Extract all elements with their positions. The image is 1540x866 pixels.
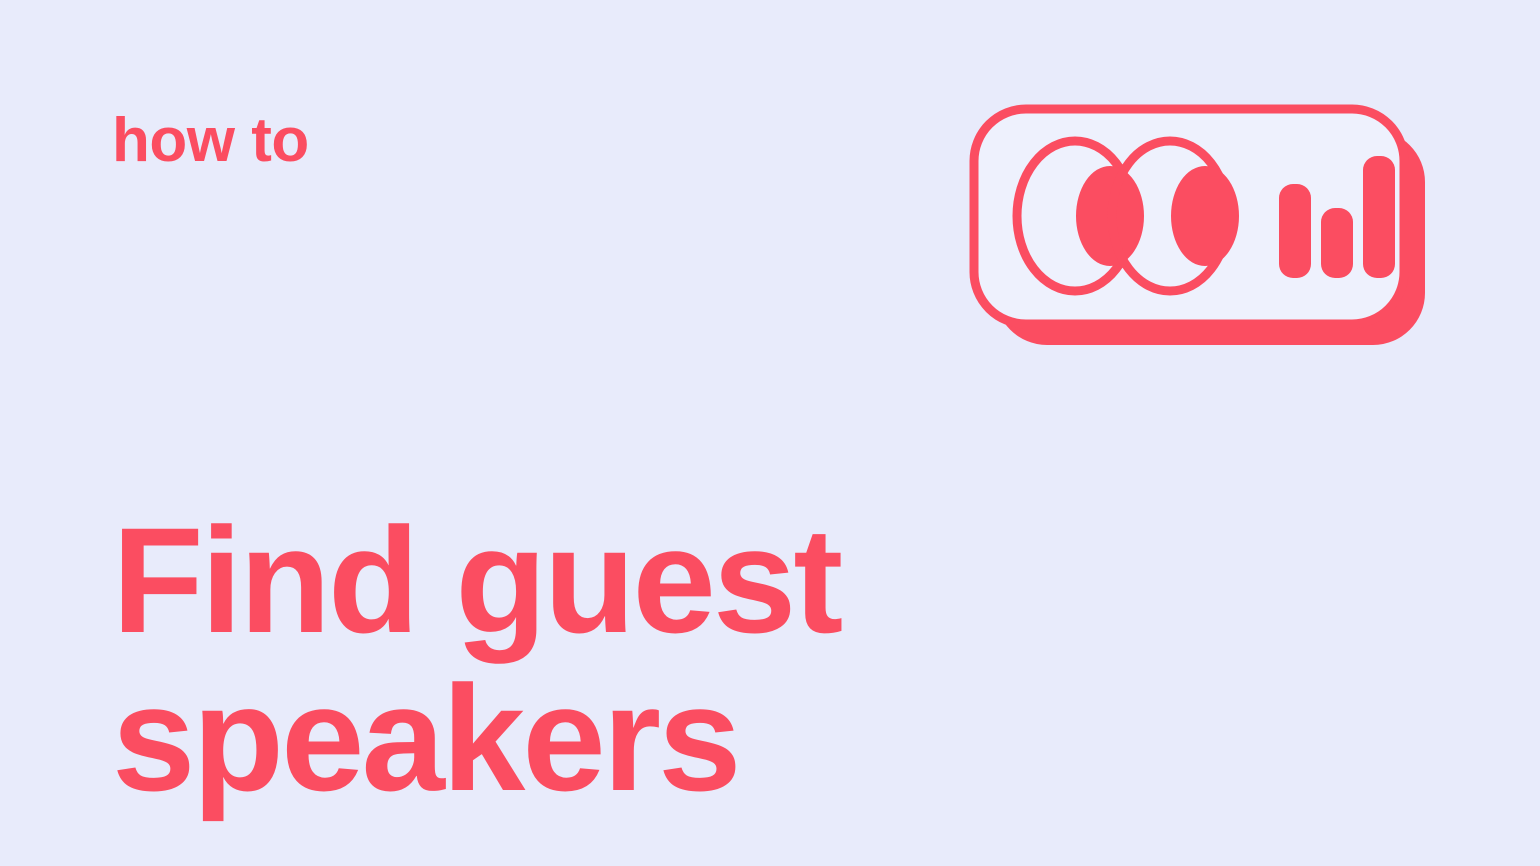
two-eyes-bar-chart-logo [963, 98, 1431, 353]
eye-right-pupil [1171, 166, 1239, 266]
logo-svg [963, 98, 1431, 353]
bar-medium [1279, 184, 1311, 278]
kicker-text: how to [112, 110, 309, 172]
bar-tall [1363, 156, 1395, 278]
page-title-line-2: speakers [112, 659, 972, 817]
promo-card: how to Find guest speakers [0, 0, 1540, 866]
page-title-line-1: Find guest [112, 501, 972, 659]
bar-short [1321, 208, 1353, 278]
page-title: Find guest speakers [112, 501, 972, 817]
